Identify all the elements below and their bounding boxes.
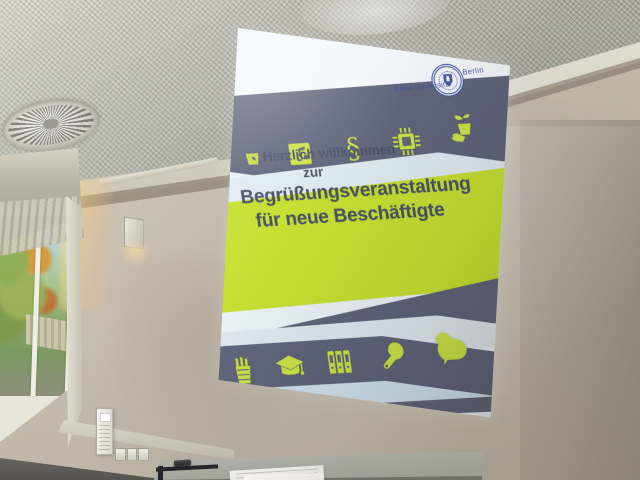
graduation-cap-icon: [273, 353, 306, 379]
university-seal-icon: [432, 65, 464, 95]
wall-control-unit[interactable]: [96, 408, 113, 455]
freie-universitaet-berlin-logo: Freie Universität Berlin: [398, 62, 509, 109]
screenshot-stage: Freie Universität Berlin: [0, 0, 640, 480]
speech-bubbles-icon: [430, 330, 472, 366]
papers-stack[interactable]: [244, 473, 324, 480]
window-frame-edge: [66, 196, 82, 446]
slide-title-line-2: zur: [302, 164, 324, 180]
wall-highlight: [492, 126, 640, 396]
wall-unit-vents: [99, 425, 110, 451]
socket[interactable]: [138, 448, 149, 461]
slide-title-block: Herzlich willkommen zur Begrüßungsverans…: [224, 132, 510, 331]
ring-binders-icon: [325, 348, 355, 376]
logo-text-right: Berlin: [462, 65, 485, 77]
socket[interactable]: [127, 448, 138, 461]
wrench-icon: [377, 341, 408, 373]
wall-box-light-glow: [118, 246, 152, 268]
remote-control[interactable]: [174, 459, 191, 466]
table-leg: [158, 466, 163, 480]
presentation-slide: Freie Universität Berlin: [219, 28, 510, 418]
pencil-cup-icon: [232, 357, 256, 385]
socket[interactable]: [115, 448, 126, 461]
projection-screen: Freie Universität Berlin: [219, 28, 510, 418]
wall-unit-display: [100, 413, 111, 422]
table: [152, 452, 482, 480]
power-sockets[interactable]: [115, 448, 149, 461]
wall-junction-box: [124, 217, 144, 250]
